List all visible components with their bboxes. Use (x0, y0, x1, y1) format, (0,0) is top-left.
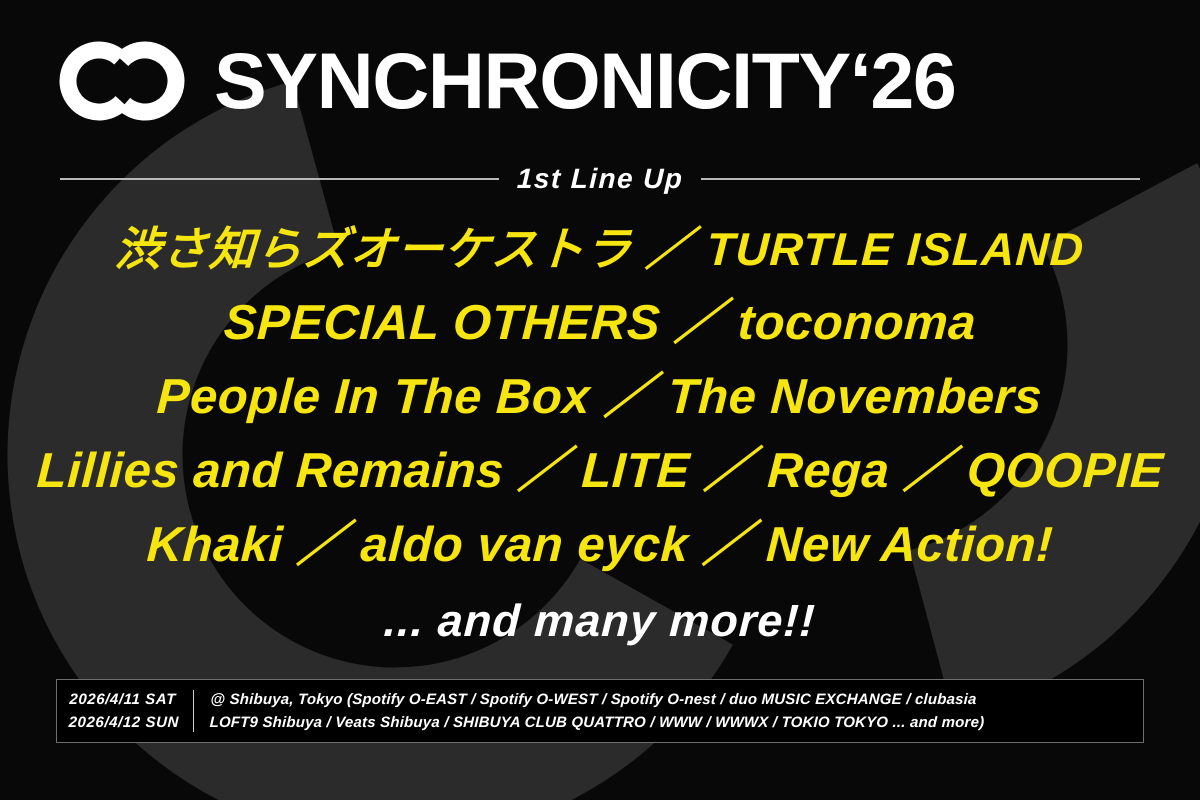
event-date-day2: 2026/4/12 SUN (68, 711, 179, 734)
artist-lineup-list: 渋さ知らズオーケストラ ／ TURTLE ISLAND SPECIAL OTHE… (0, 212, 1200, 658)
and-many-more-label: ... and many more!! (382, 582, 818, 658)
event-venues: @ Shibuya, Tokyo (Spotify O-EAST / Spoti… (194, 688, 1144, 735)
divider-rule-left (60, 178, 499, 180)
event-venue-line-2: LOFT9 Shibuya / Veats Shibuya / SHIBUYA … (210, 711, 1143, 734)
divider-rule-right (701, 178, 1140, 180)
artist-line: SPECIAL OTHERS ／ toconoma (222, 286, 978, 360)
lineup-section-label: 1st Line Up (516, 163, 683, 195)
artist-line: 渋さ知らズオーケストラ ／ TURTLE ISLAND (113, 212, 1086, 286)
festival-poster: SYNCHRONICITY‘26 1st Line Up 渋さ知らズオーケストラ… (0, 0, 1200, 800)
artist-line: Lillies and Remains ／ LITE ／ Rega ／ QOOP… (35, 434, 1165, 508)
lineup-section-header: 1st Line Up (60, 163, 1140, 195)
event-dates: 2026/4/11 SAT 2026/4/12 SUN (56, 688, 194, 735)
event-info-box: 2026/4/11 SAT 2026/4/12 SUN @ Shibuya, T… (56, 679, 1144, 743)
event-date-day1: 2026/4/11 SAT (69, 688, 180, 711)
event-venue-line-1: @ Shibuya, Tokyo (Spotify O-EAST / Spoti… (210, 688, 1143, 711)
synchronicity-infinity-rings-icon (56, 38, 188, 124)
artist-line: People In The Box ／ The Novembers (156, 360, 1045, 434)
poster-header: SYNCHRONICITY‘26 (0, 38, 1200, 124)
page-title: SYNCHRONICITY‘26 (214, 43, 955, 119)
artist-line: Khaki ／ aldo van eyck ／ New Action! (145, 508, 1055, 582)
